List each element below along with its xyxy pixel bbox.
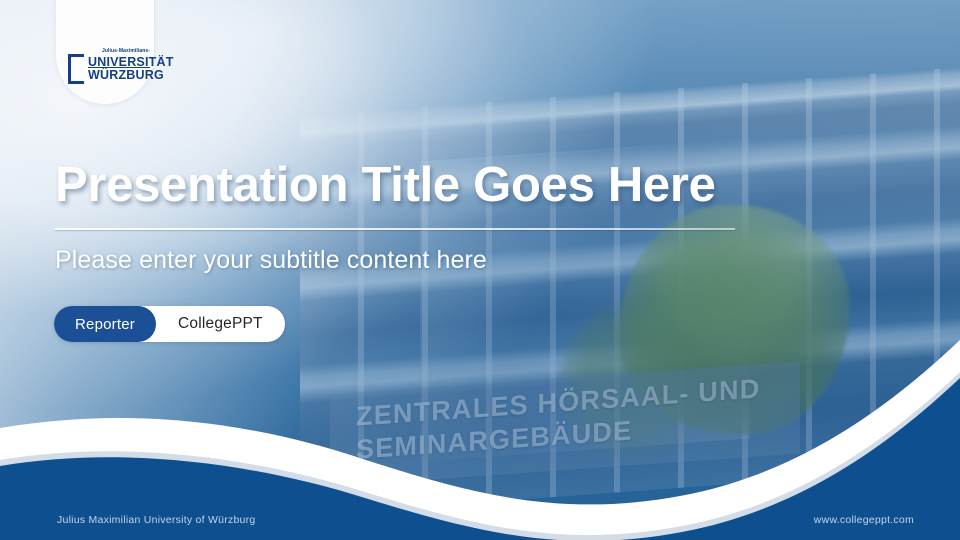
footer-institution: Julius Maximilian University of Würzburg xyxy=(57,514,255,526)
logo-city-text: WÜRZBURG xyxy=(88,69,164,82)
presenter-badge-label: Reporter xyxy=(54,306,156,342)
presentation-title[interactable]: Presentation Title Goes Here xyxy=(55,158,855,213)
presentation-subtitle[interactable]: Please enter your subtitle content here xyxy=(55,246,487,275)
presenter-name[interactable]: CollegePPT xyxy=(156,315,263,333)
university-logo: Julius-Maximilians- UNIVERSITÄT WÜRZBURG xyxy=(68,48,154,86)
wave-decoration xyxy=(0,310,960,540)
logo-bracket-icon xyxy=(68,54,84,84)
presenter-pill[interactable]: Reporter CollegePPT xyxy=(54,306,285,342)
logo-superscript: Julius-Maximilians- xyxy=(102,48,150,54)
title-slide: ZENTRALES HÖRSAAL- UND SEMINARGEBÄUDE Ju… xyxy=(0,0,960,540)
footer-website[interactable]: www.collegeppt.com xyxy=(814,514,914,526)
title-divider xyxy=(55,228,735,230)
